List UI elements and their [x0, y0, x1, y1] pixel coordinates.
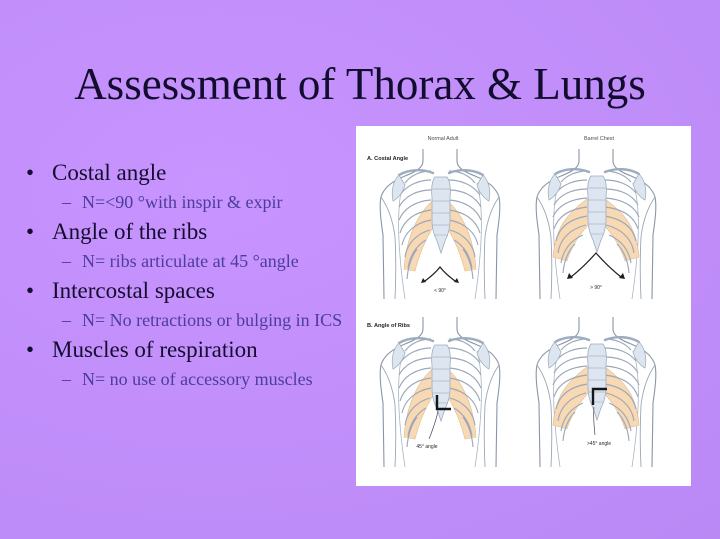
list-item: • Intercostal spaces – N= No retractions… — [18, 276, 373, 335]
figure-a-left-annotation: < 90° — [434, 288, 446, 294]
bullet-marker-icon: • — [26, 276, 34, 306]
bullet-level2: – N= no use of accessory muscles — [18, 365, 373, 394]
figure-svg: Normal Adult Barrel Chest A. Costal Angl… — [357, 127, 690, 485]
subbullet-label: N= ribs articulate at 45 °angle — [82, 251, 299, 271]
bullet-label: Muscles of respiration — [52, 337, 258, 362]
dash-marker-icon: – — [62, 365, 71, 394]
bullet-label: Intercostal spaces — [52, 278, 215, 303]
bullet-marker-icon: • — [26, 335, 34, 365]
bullet-label: Costal angle — [52, 160, 166, 185]
bullet-level2: – N=<90 °with inspir & expir — [18, 188, 373, 217]
subbullet-label: N= No retractions or bulging in ICS — [82, 310, 342, 330]
bullet-marker-icon: • — [26, 158, 34, 188]
bullet-level2: – N= ribs articulate at 45 °angle — [18, 247, 373, 276]
bullet-level1: • Muscles of respiration — [18, 335, 373, 365]
figure-section-a-title: A. Costal Angle — [367, 156, 408, 162]
dash-marker-icon: – — [62, 188, 71, 217]
subbullet-label: N= no use of accessory muscles — [82, 369, 313, 389]
figure-b-right-annotation: >45° angle — [587, 441, 611, 447]
bullet-list: • Costal angle – N=<90 °with inspir & ex… — [18, 158, 373, 394]
page-title: Assessment of Thorax & Lungs — [0, 58, 720, 110]
list-item: • Angle of the ribs – N= ribs articulate… — [18, 217, 373, 276]
bullet-level1: • Intercostal spaces — [18, 276, 373, 306]
bullet-label: Angle of the ribs — [52, 219, 207, 244]
figure-b-left-annotation: 45° angle — [416, 444, 437, 450]
bullet-marker-icon: • — [26, 217, 34, 247]
figure-a-right-annotation: > 90° — [590, 285, 602, 291]
bullet-level1: • Costal angle — [18, 158, 373, 188]
bullet-level1: • Angle of the ribs — [18, 217, 373, 247]
dash-marker-icon: – — [62, 306, 71, 335]
subbullet-label: N=<90 °with inspir & expir — [82, 192, 283, 212]
figure-column-title-left: Normal Adult — [428, 136, 459, 142]
slide-canvas: Assessment of Thorax & Lungs • Costal an… — [0, 0, 720, 539]
list-item: • Costal angle – N=<90 °with inspir & ex… — [18, 158, 373, 217]
figure-section-b-title: B. Angle of Ribs — [367, 323, 410, 329]
dash-marker-icon: – — [62, 247, 71, 276]
list-item: • Muscles of respiration – N= no use of … — [18, 335, 373, 394]
bullet-level2: – N= No retractions or bulging in ICS — [18, 306, 373, 335]
figure-column-title-right: Barrel Chest — [584, 136, 614, 142]
thorax-comparison-illustration: Normal Adult Barrel Chest A. Costal Angl… — [357, 127, 690, 485]
